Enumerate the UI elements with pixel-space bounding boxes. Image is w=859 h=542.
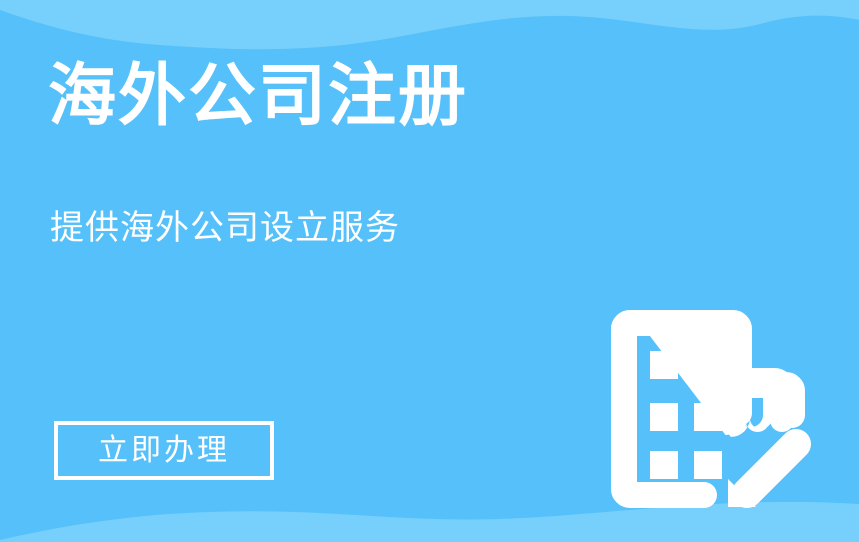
promo-banner: 海外公司注册 提供海外公司设立服务 立即办理: [0, 0, 859, 542]
cta-apply-now-button[interactable]: 立即办理: [54, 421, 274, 480]
building-window: [694, 451, 722, 479]
building-window: [650, 351, 678, 379]
building-window: [694, 403, 722, 431]
page-subtitle: 提供海外公司设立服务: [50, 208, 400, 249]
building-window: [650, 403, 678, 431]
pencil-body-path: [747, 444, 796, 493]
banner-content: 海外公司注册 提供海外公司设立服务 立即办理: [0, 0, 859, 542]
building-window: [694, 351, 722, 379]
building-pencil-icon: [604, 303, 824, 527]
building-window: [650, 451, 678, 479]
page-title: 海外公司注册: [48, 62, 468, 130]
